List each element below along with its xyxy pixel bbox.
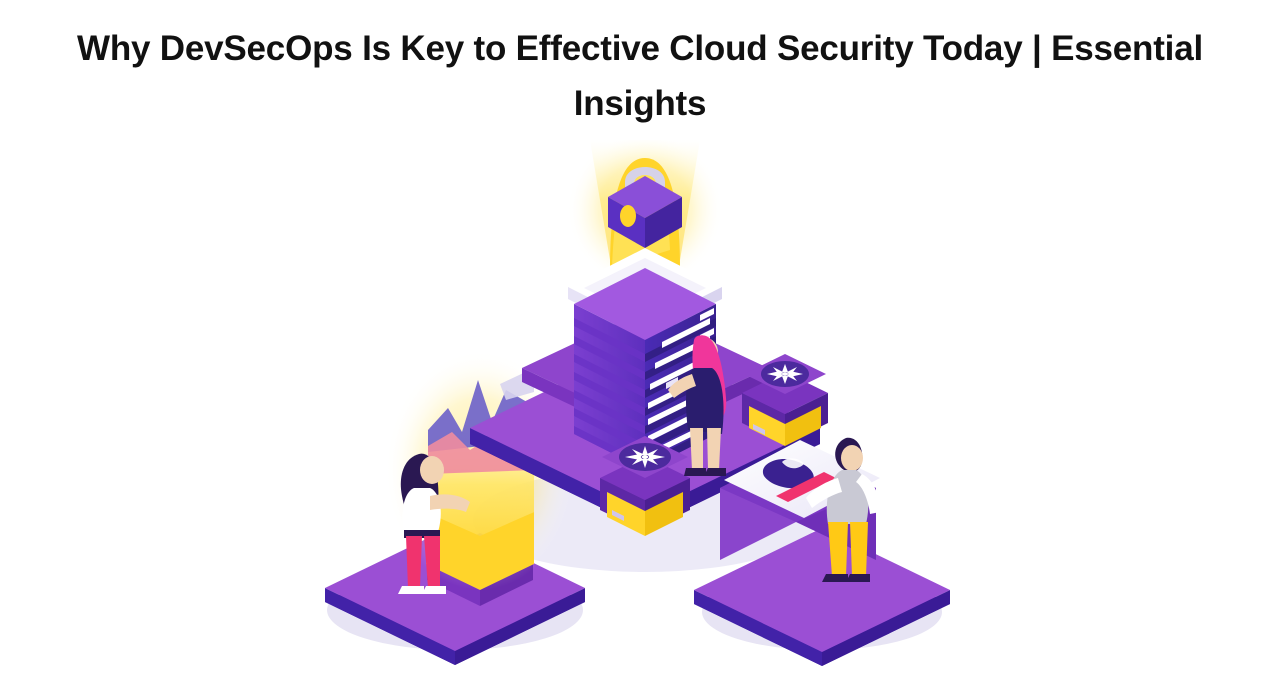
illustration-svg	[0, 140, 1280, 675]
analyst-leg-left	[406, 536, 422, 588]
analyst-top	[402, 488, 440, 532]
page-title-container: Why DevSecOps Is Key to Effective Cloud …	[0, 22, 1280, 131]
analyst-face	[420, 456, 444, 484]
hero-illustration	[0, 140, 1280, 675]
page-title: Why DevSecOps Is Key to Effective Cloud …	[60, 22, 1220, 131]
page-root: Why DevSecOps Is Key to Effective Cloud …	[0, 0, 1280, 675]
operator-shoe-right	[846, 574, 870, 582]
engineer-shoe-left	[684, 468, 706, 476]
padlock-keyhole	[620, 205, 636, 227]
operator-leg-right	[850, 522, 868, 576]
operator-face	[841, 445, 863, 471]
analyst-shoe-left	[398, 586, 424, 594]
operator-shoe-left	[822, 574, 848, 582]
engineer-leg-left	[690, 428, 703, 470]
analyst-shoe-right	[422, 586, 446, 594]
engineer-leg-right	[707, 428, 721, 470]
